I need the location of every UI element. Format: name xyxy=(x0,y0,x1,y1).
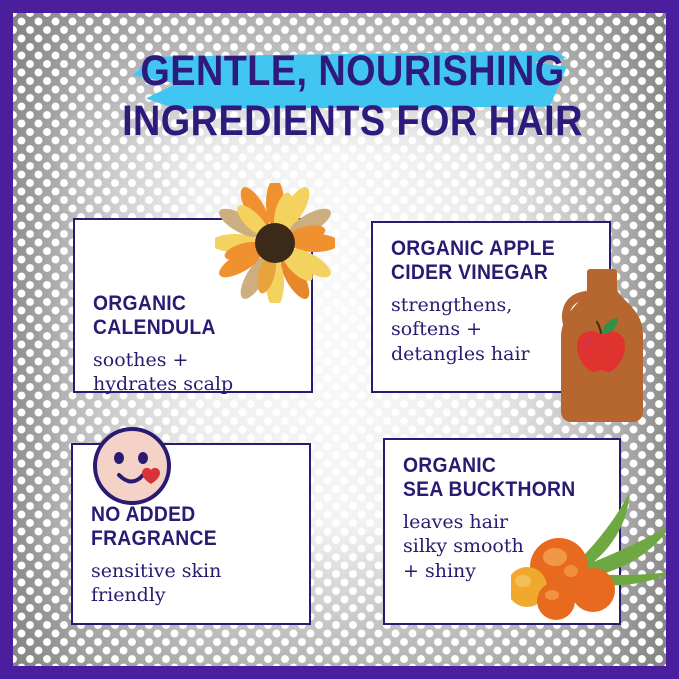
card-body: strengthens, softens + detangles hair xyxy=(391,293,593,366)
ingredient-card-apple-cider-vinegar: ORGANIC APPLE CIDER VINEGAR strengthens,… xyxy=(371,221,611,393)
ingredient-card-sea-buckthorn: ORGANIC SEA BUCKTHORN leaves hair silky … xyxy=(383,438,621,625)
card-heading: ORGANIC CALENDULA xyxy=(93,292,279,339)
title-line-1: GENTLE, NOURISHING xyxy=(54,47,652,92)
card-heading: ORGANIC SEA BUCKTHORN xyxy=(403,454,587,501)
card-heading: NO ADDED FRAGRANCE xyxy=(91,503,277,550)
card-heading: ORGANIC APPLE CIDER VINEGAR xyxy=(391,237,577,284)
ingredient-card-calendula: ORGANIC CALENDULA soothes + hydrates sca… xyxy=(73,218,313,393)
card-body: sensitive skin friendly xyxy=(91,559,293,608)
ingredient-card-no-added-fragrance: NO ADDED FRAGRANCE sensitive skin friend… xyxy=(71,443,311,625)
poster-title: GENTLE, NOURISHING INGREDIENTS FOR HAIR xyxy=(13,47,679,143)
title-line-2: INGREDIENTS FOR HAIR xyxy=(54,92,652,142)
card-body: soothes + hydrates scalp xyxy=(93,348,295,397)
poster-canvas: GENTLE, NOURISHING INGREDIENTS FOR HAIR … xyxy=(0,0,679,679)
card-body: leaves hair silky smooth + shiny xyxy=(403,510,603,583)
